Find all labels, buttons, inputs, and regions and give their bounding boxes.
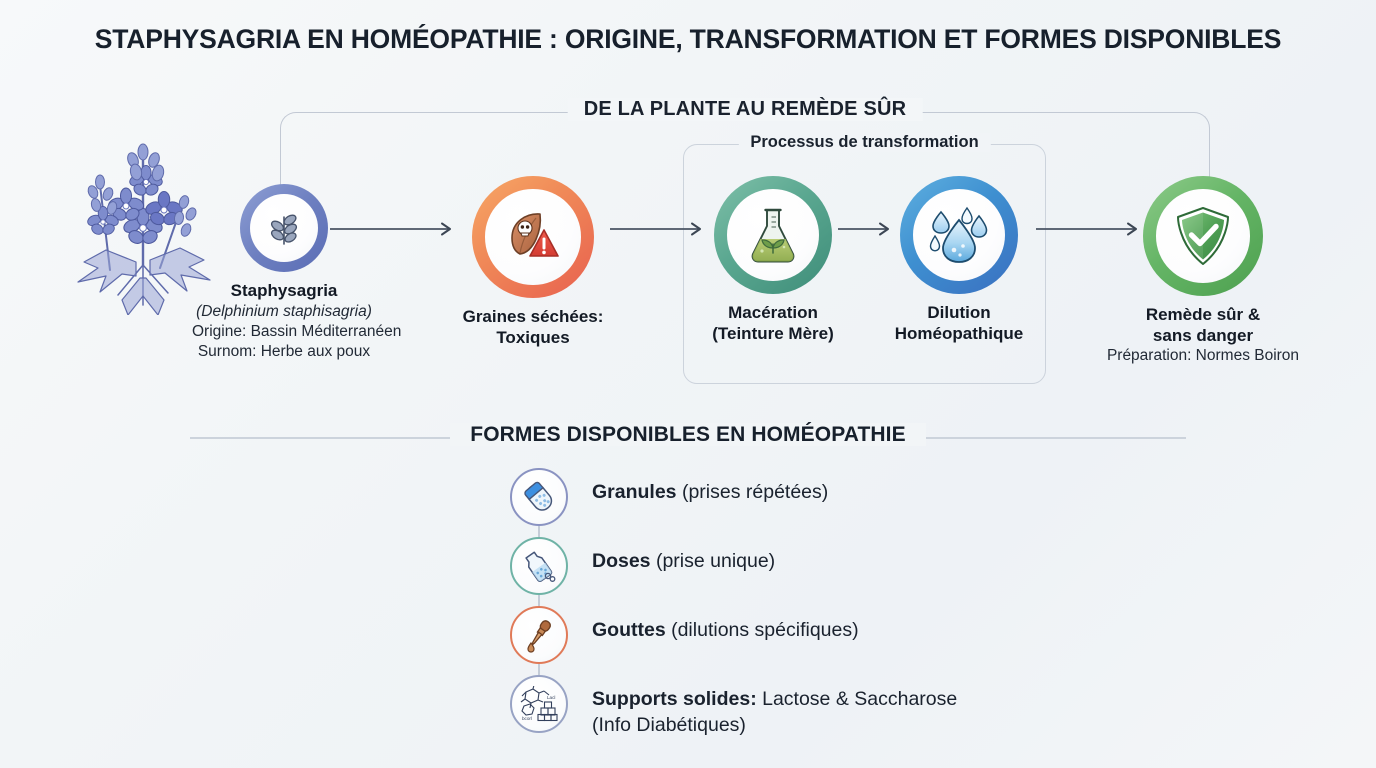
form-icon-wrap: Lacl bcorl xyxy=(510,675,568,733)
form-detail: (dilutions spécifiques) xyxy=(666,619,859,641)
node-nickname: Surnom: Herbe aux poux xyxy=(192,342,376,362)
node-label-line2: Homéopathique xyxy=(876,324,1042,345)
node-circle-seeds xyxy=(472,176,594,298)
flow-node-safe-remedy[interactable]: Remède sûr & sans danger Préparation: No… xyxy=(1088,176,1318,367)
test-tube-icon xyxy=(521,479,557,515)
node-preparation: Préparation: Normes Boiron xyxy=(1088,346,1318,366)
vial-icon xyxy=(521,548,557,584)
node-label-line2: sans danger xyxy=(1088,326,1318,347)
forms-section-heading: FORMES DISPONIBLES EN HOMÉOPATHIE xyxy=(0,423,1376,447)
flow-frame-label: DE LA PLANTE AU REMÈDE SÛR xyxy=(568,98,923,121)
list-item-gouttes[interactable]: Gouttes (dilutions spécifiques) xyxy=(510,606,1130,675)
node-circle-dilution xyxy=(900,176,1018,294)
svg-text:Lacl: Lacl xyxy=(547,695,555,700)
form-text: Doses (prise unique) xyxy=(592,537,775,575)
water-droplets-icon xyxy=(929,206,989,264)
forms-list: Granules (prises répétées) xyxy=(510,468,1130,744)
form-icon-circle: Lacl bcorl xyxy=(510,675,568,733)
dropper-icon xyxy=(521,617,557,653)
form-text: Gouttes (dilutions spécifiques) xyxy=(592,606,859,644)
svg-text:bcorl: bcorl xyxy=(522,716,532,721)
node-label-line1: Graines séchées: xyxy=(435,307,631,328)
list-item-supports-solides[interactable]: Lacl bcorl Supports solides: Lactose & S… xyxy=(510,675,1130,744)
form-name: Supports solides: xyxy=(592,688,757,710)
plant-sprig-icon xyxy=(264,208,304,248)
list-item-doses[interactable]: Doses (prise unique) xyxy=(510,537,1130,606)
node-label: Staphysagria xyxy=(192,281,376,302)
node-circle-maceration xyxy=(714,176,832,294)
form-connector xyxy=(538,664,540,675)
list-item-granules[interactable]: Granules (prises répétées) xyxy=(510,468,1130,537)
form-detail: (prise unique) xyxy=(651,550,776,572)
form-icon-wrap xyxy=(510,468,568,526)
flow-node-dilution[interactable]: Dilution Homéopathique xyxy=(876,176,1042,344)
forms-heading-text: FORMES DISPONIBLES EN HOMÉOPATHIE xyxy=(450,423,925,446)
node-label-line1: Dilution xyxy=(876,303,1042,324)
form-icon-wrap xyxy=(510,537,568,595)
form-detail: (prises répétées) xyxy=(677,481,829,503)
form-text: Supports solides: Lactose & Saccharose (… xyxy=(592,675,957,738)
process-box-label: Processus de transformation xyxy=(738,133,990,152)
flow-node-maceration[interactable]: Macération (Teinture Mère) xyxy=(690,176,856,344)
form-connector xyxy=(538,595,540,606)
node-label-line1: Macération xyxy=(690,303,856,324)
node-label-line2: (Teinture Mère) xyxy=(690,324,856,345)
form-detail: Lactose & Saccharose xyxy=(757,688,958,710)
flow-node-staphysagria[interactable]: Staphysagria (Delphinium staphisagria) O… xyxy=(192,184,376,362)
form-text: Granules (prises répétées) xyxy=(592,468,828,506)
node-circle-remedy xyxy=(1143,176,1263,296)
page-title: STAPHYSAGRIA EN HOMÉOPATHIE : ORIGINE, T… xyxy=(0,24,1376,55)
form-detail-line2: (Info Diabétiques) xyxy=(592,713,957,739)
form-name: Doses xyxy=(592,550,651,572)
form-icon-wrap xyxy=(510,606,568,664)
form-name: Gouttes xyxy=(592,619,666,641)
form-icon-circle xyxy=(510,606,568,664)
node-scientific-name: (Delphinium staphisagria) xyxy=(192,302,376,322)
form-connector xyxy=(538,526,540,537)
shield-check-icon xyxy=(1175,206,1231,266)
node-origin: Origine: Bassin Méditerranéen xyxy=(192,322,376,342)
node-circle-plant xyxy=(240,184,328,272)
form-icon-circle xyxy=(510,537,568,595)
flask-leaf-icon xyxy=(746,206,800,264)
form-icon-circle xyxy=(510,468,568,526)
toxic-seed-warning-icon xyxy=(502,208,564,266)
form-name: Granules xyxy=(592,481,677,503)
sugar-molecule-icon: Lacl bcorl xyxy=(520,686,558,722)
node-label-line1: Remède sûr & xyxy=(1088,305,1318,326)
node-label-line2: Toxiques xyxy=(435,328,631,349)
flow-node-dried-seeds[interactable]: Graines séchées: Toxiques xyxy=(435,176,631,348)
